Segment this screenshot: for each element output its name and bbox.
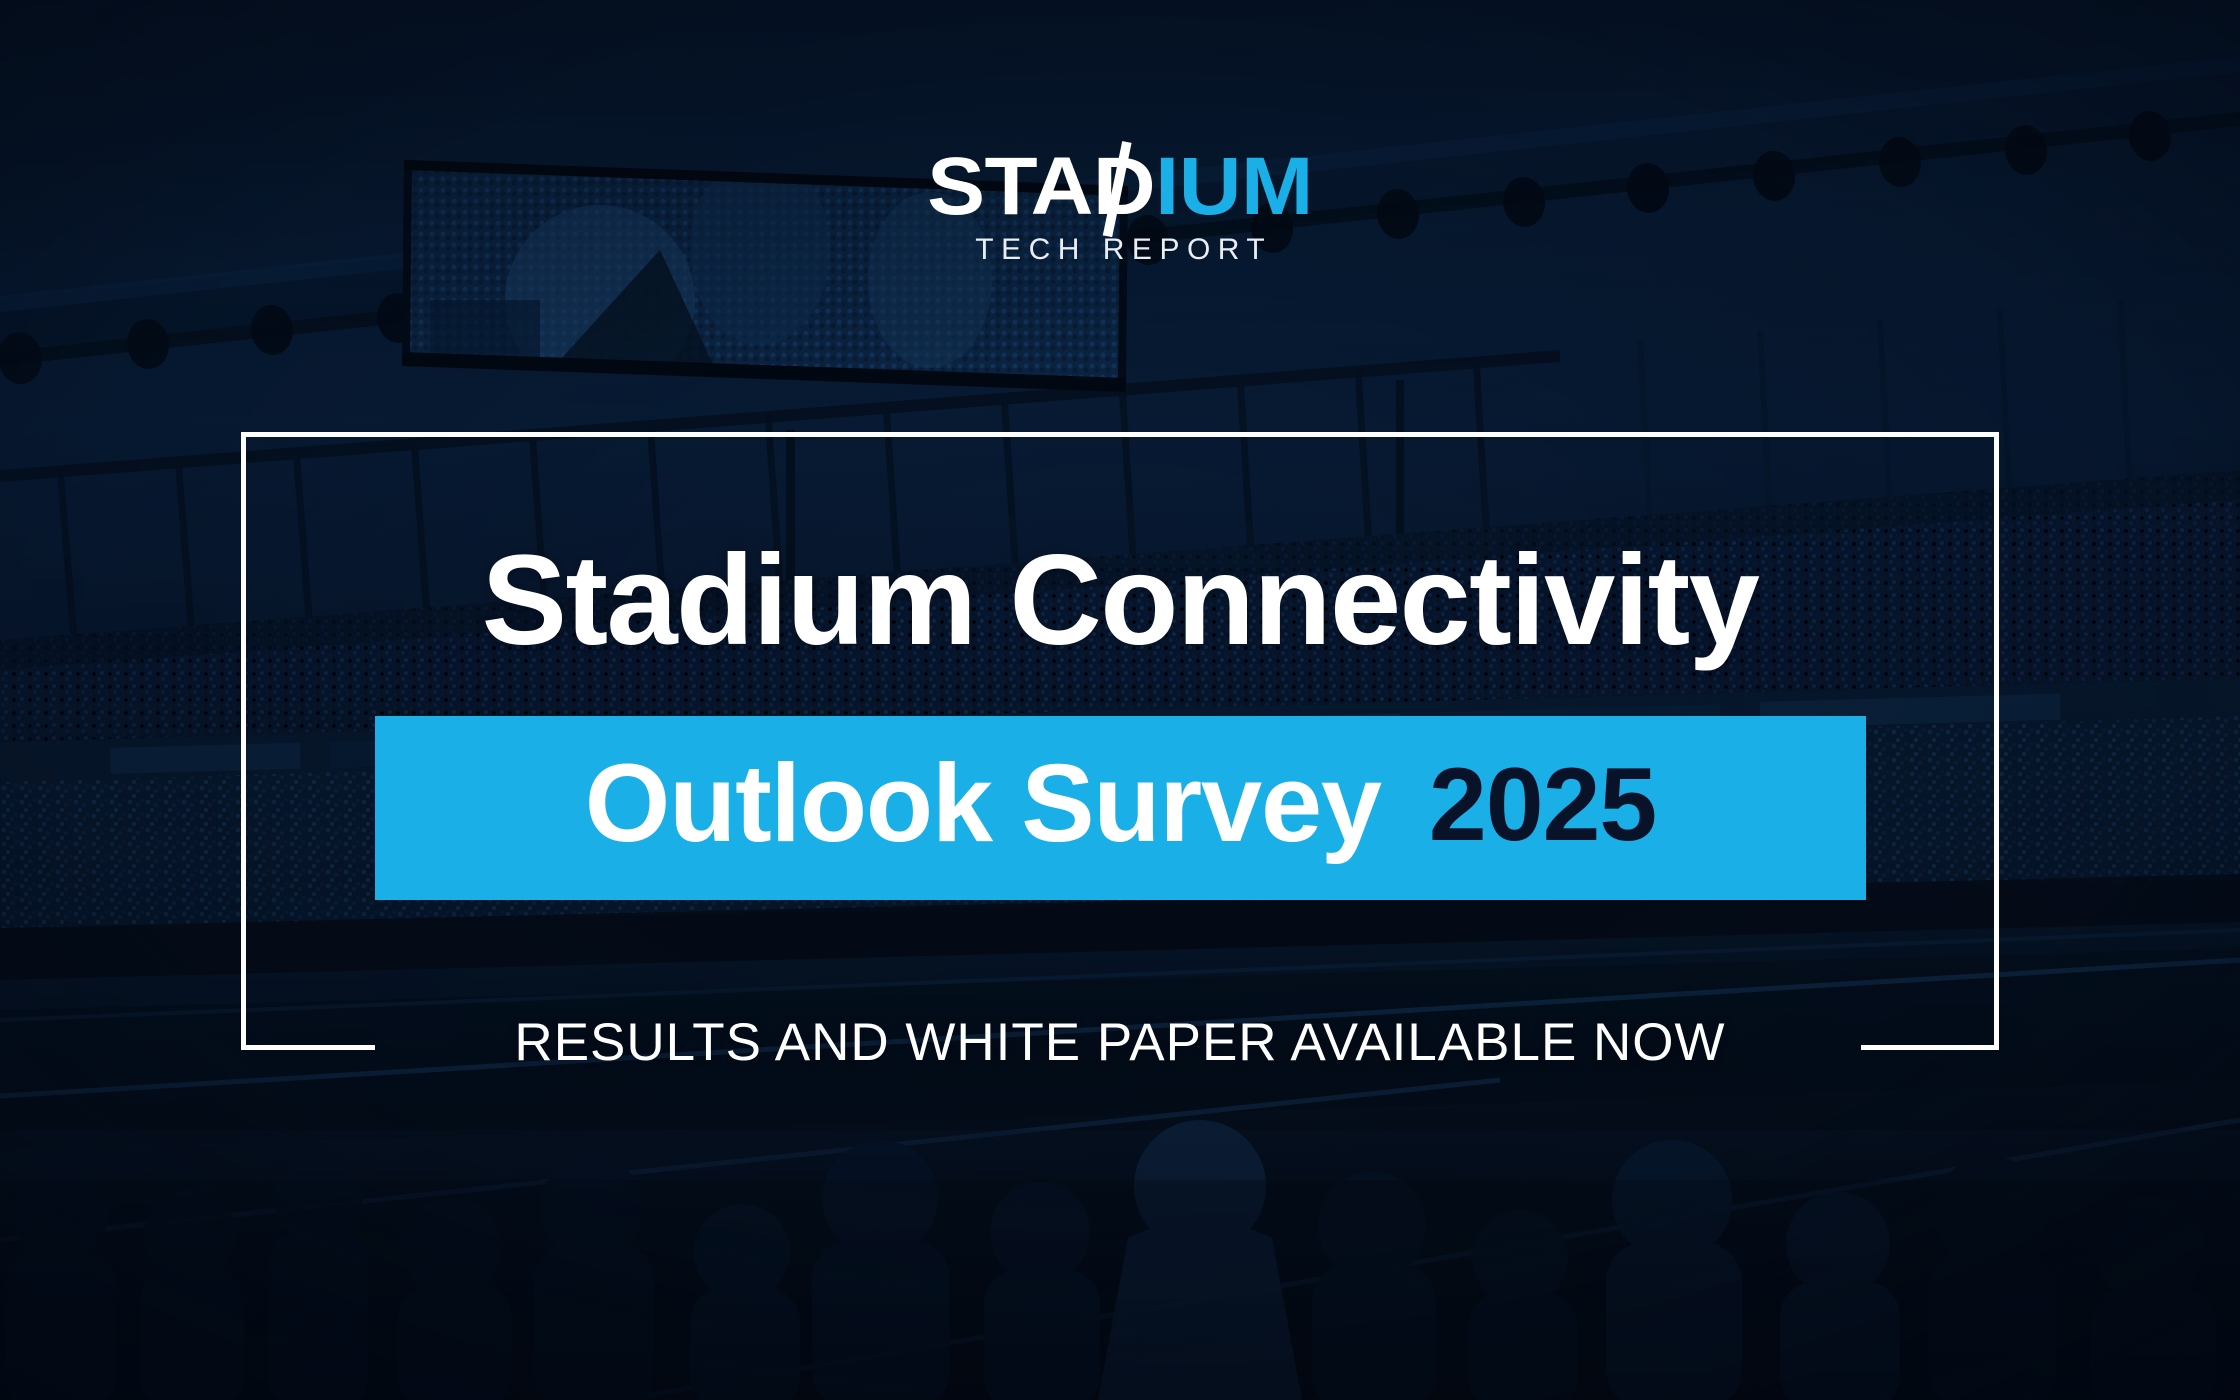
logo-subtitle: TECH REPORT	[0, 233, 2240, 267]
availability-tagline: RESULTS AND WHITE PAPER AVAILABLE NOW	[241, 1016, 1999, 1069]
survey-year-text: 2025	[1429, 753, 1656, 857]
stadium-tech-report-logo[interactable]: STADIUM TECH REPORT	[0, 148, 2240, 267]
promo-banner-stage: STADIUM TECH REPORT Stadium Connectivity…	[0, 0, 2240, 1400]
page-title: Stadium Connectivity	[241, 536, 1999, 667]
survey-title-text: Outlook Survey	[585, 749, 1381, 859]
logo-text-ium: IUM	[1155, 141, 1313, 232]
survey-title-banner: Outlook Survey 2025	[375, 716, 1866, 900]
logo-wordmark: STADIUM	[927, 148, 1313, 227]
